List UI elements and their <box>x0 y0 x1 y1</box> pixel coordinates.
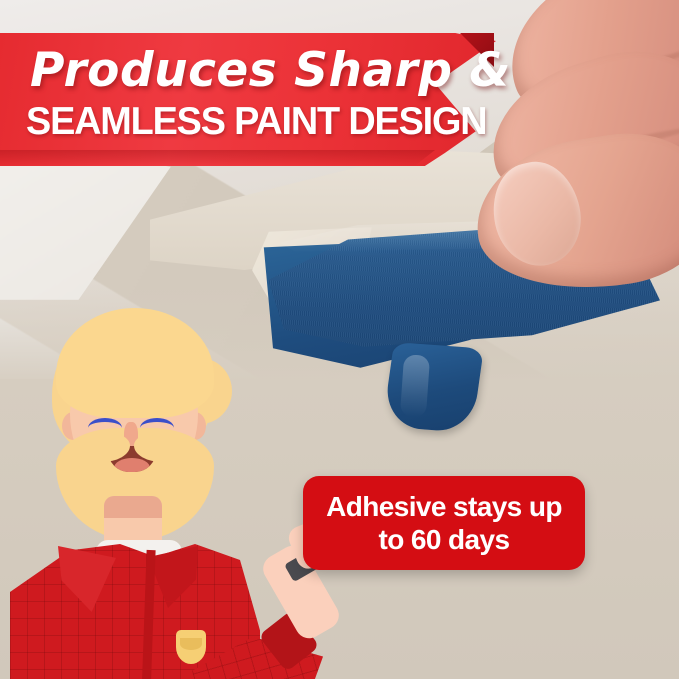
adhesive-duration-callout: Adhesive stays up to 60 days <box>303 476 585 570</box>
tape-hanging-tab <box>382 342 484 433</box>
product-marketing-image: Produces Sharp & SEAMLESS PAINT DESIGN A… <box>0 0 679 679</box>
bearded-painter-mascot <box>0 300 340 679</box>
adhesive-duration-callout-text: Adhesive stays up to 60 days <box>303 476 585 570</box>
photo-hand-holding-tape <box>486 0 679 280</box>
headline-bold-line: SEAMLESS PAINT DESIGN <box>26 101 463 143</box>
headline-script-line: Produces Sharp & <box>30 44 470 98</box>
tongue <box>114 458 150 472</box>
shirt-pocket-fold <box>180 638 202 650</box>
tape-tab-highlight <box>400 354 430 418</box>
neck-shadow <box>104 496 162 518</box>
hair-front <box>56 308 214 418</box>
